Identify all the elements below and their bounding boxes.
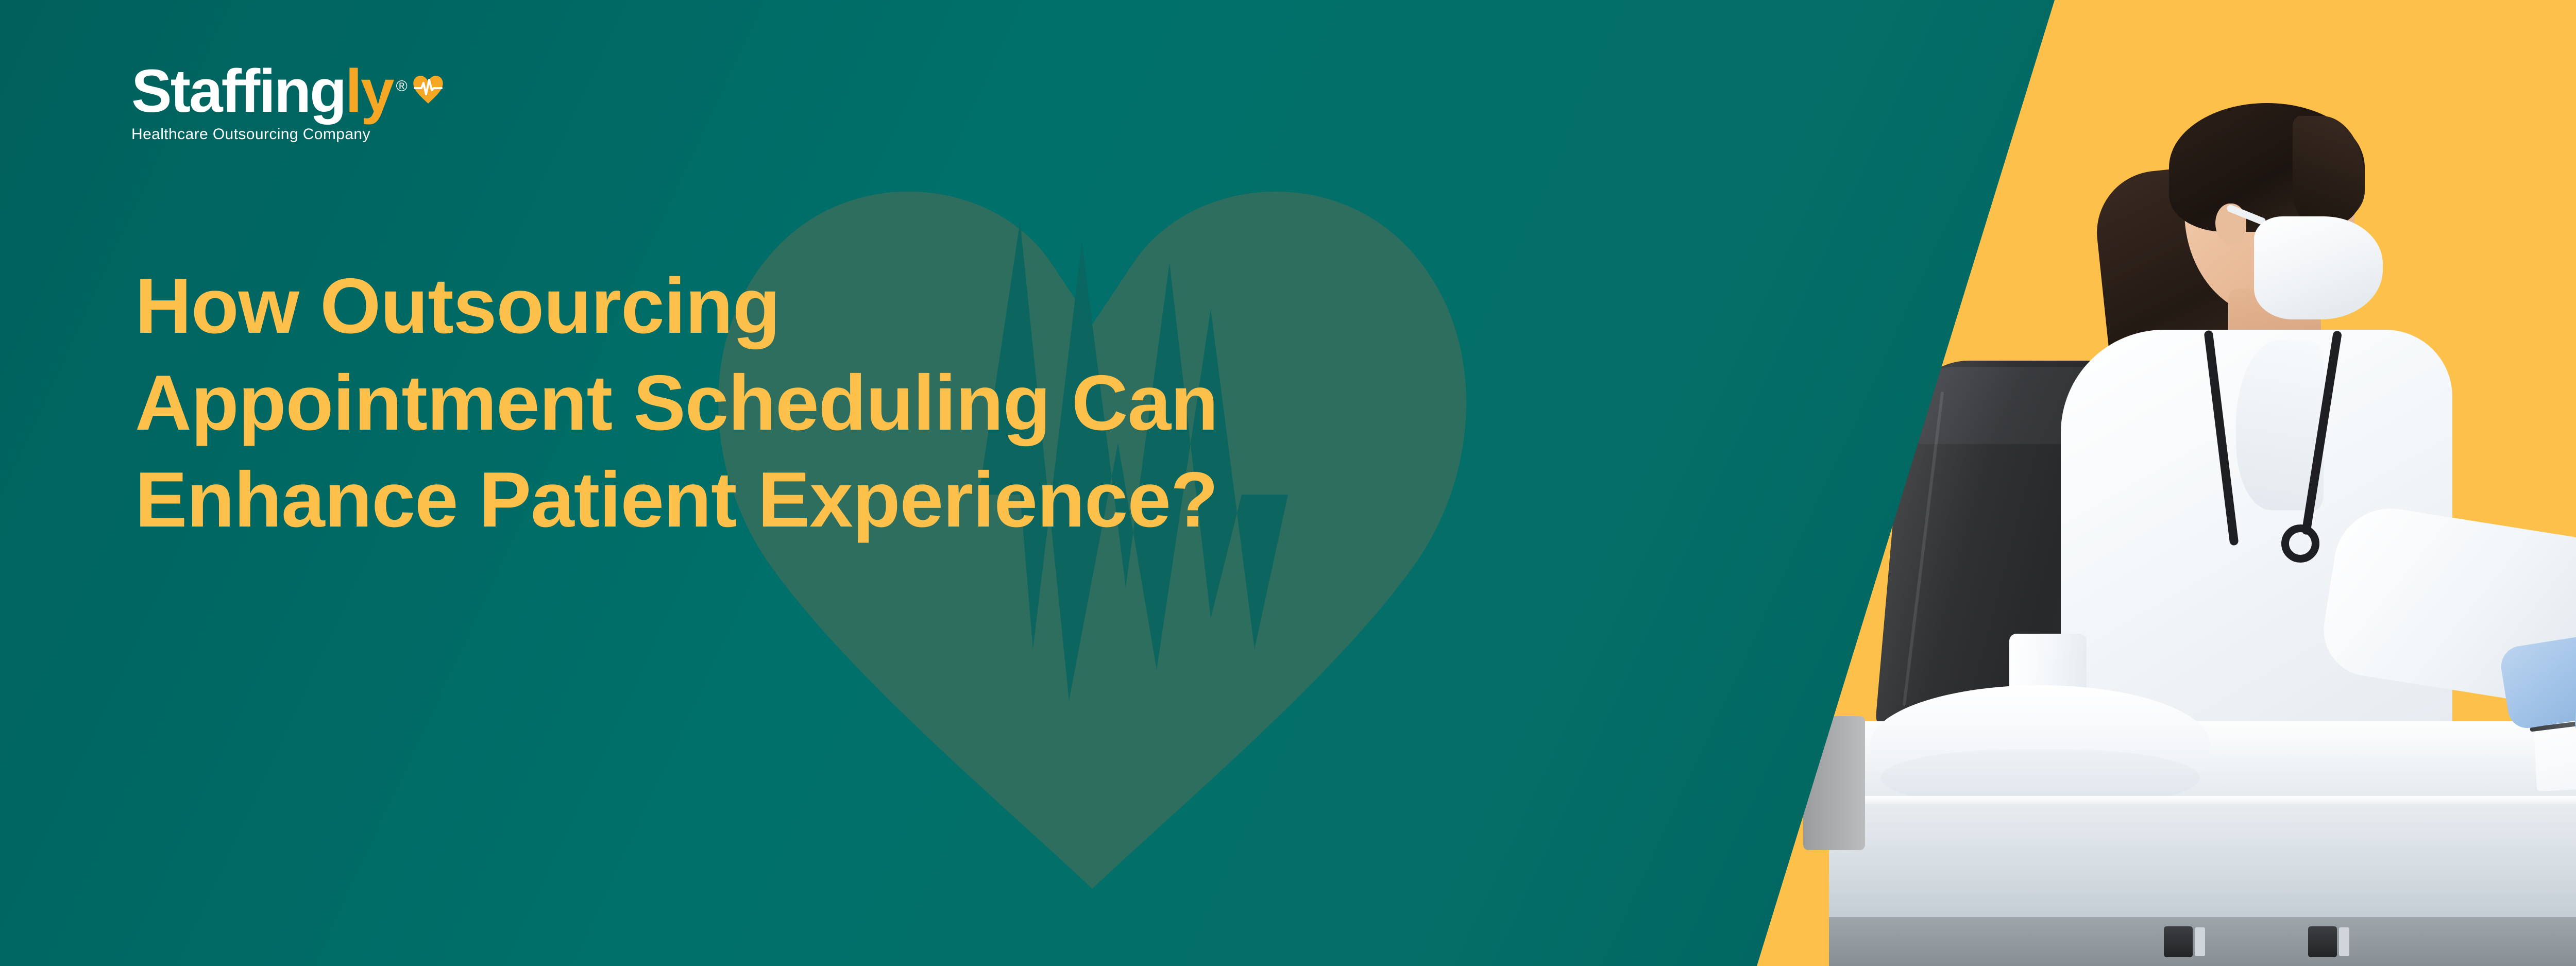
teal-background-panel: Staffingly® Healthcare Outsourcing Compa… — [0, 0, 2087, 966]
staffingly-logo[interactable]: Staffingly® Healthcare Outsourcing Compa… — [131, 61, 406, 143]
headline-line-2: Appointment Scheduling Can — [135, 354, 1706, 451]
heart-pulse-icon — [412, 54, 444, 83]
registered-trademark-mark: ® — [396, 78, 406, 95]
desk-hardware — [2164, 926, 2193, 957]
page-title: How Outsourcing Appointment Scheduling C… — [135, 258, 1706, 548]
headline-line-3: Enhance Patient Experience? — [135, 451, 1706, 548]
logo-wordmark: Staffingly® — [131, 61, 406, 122]
headline-line-1: How Outsourcing — [135, 258, 1706, 354]
desk-hardware-clip — [2339, 927, 2349, 956]
logo-word-accent: ly — [345, 57, 393, 125]
desk-hardware — [2308, 926, 2337, 957]
doctor-hair-front — [2293, 116, 2365, 224]
marketing-banner: Staffingly® Healthcare Outsourcing Compa… — [0, 0, 2576, 966]
desk-front-panel — [1829, 804, 2576, 922]
logo-word-primary: Staffing — [131, 57, 345, 125]
desk-hardware-clip — [2195, 927, 2205, 956]
logo-tagline: Healthcare Outsourcing Company — [131, 126, 406, 143]
doctor-face-mask — [2254, 216, 2383, 319]
stethoscope-bell — [2281, 524, 2319, 563]
